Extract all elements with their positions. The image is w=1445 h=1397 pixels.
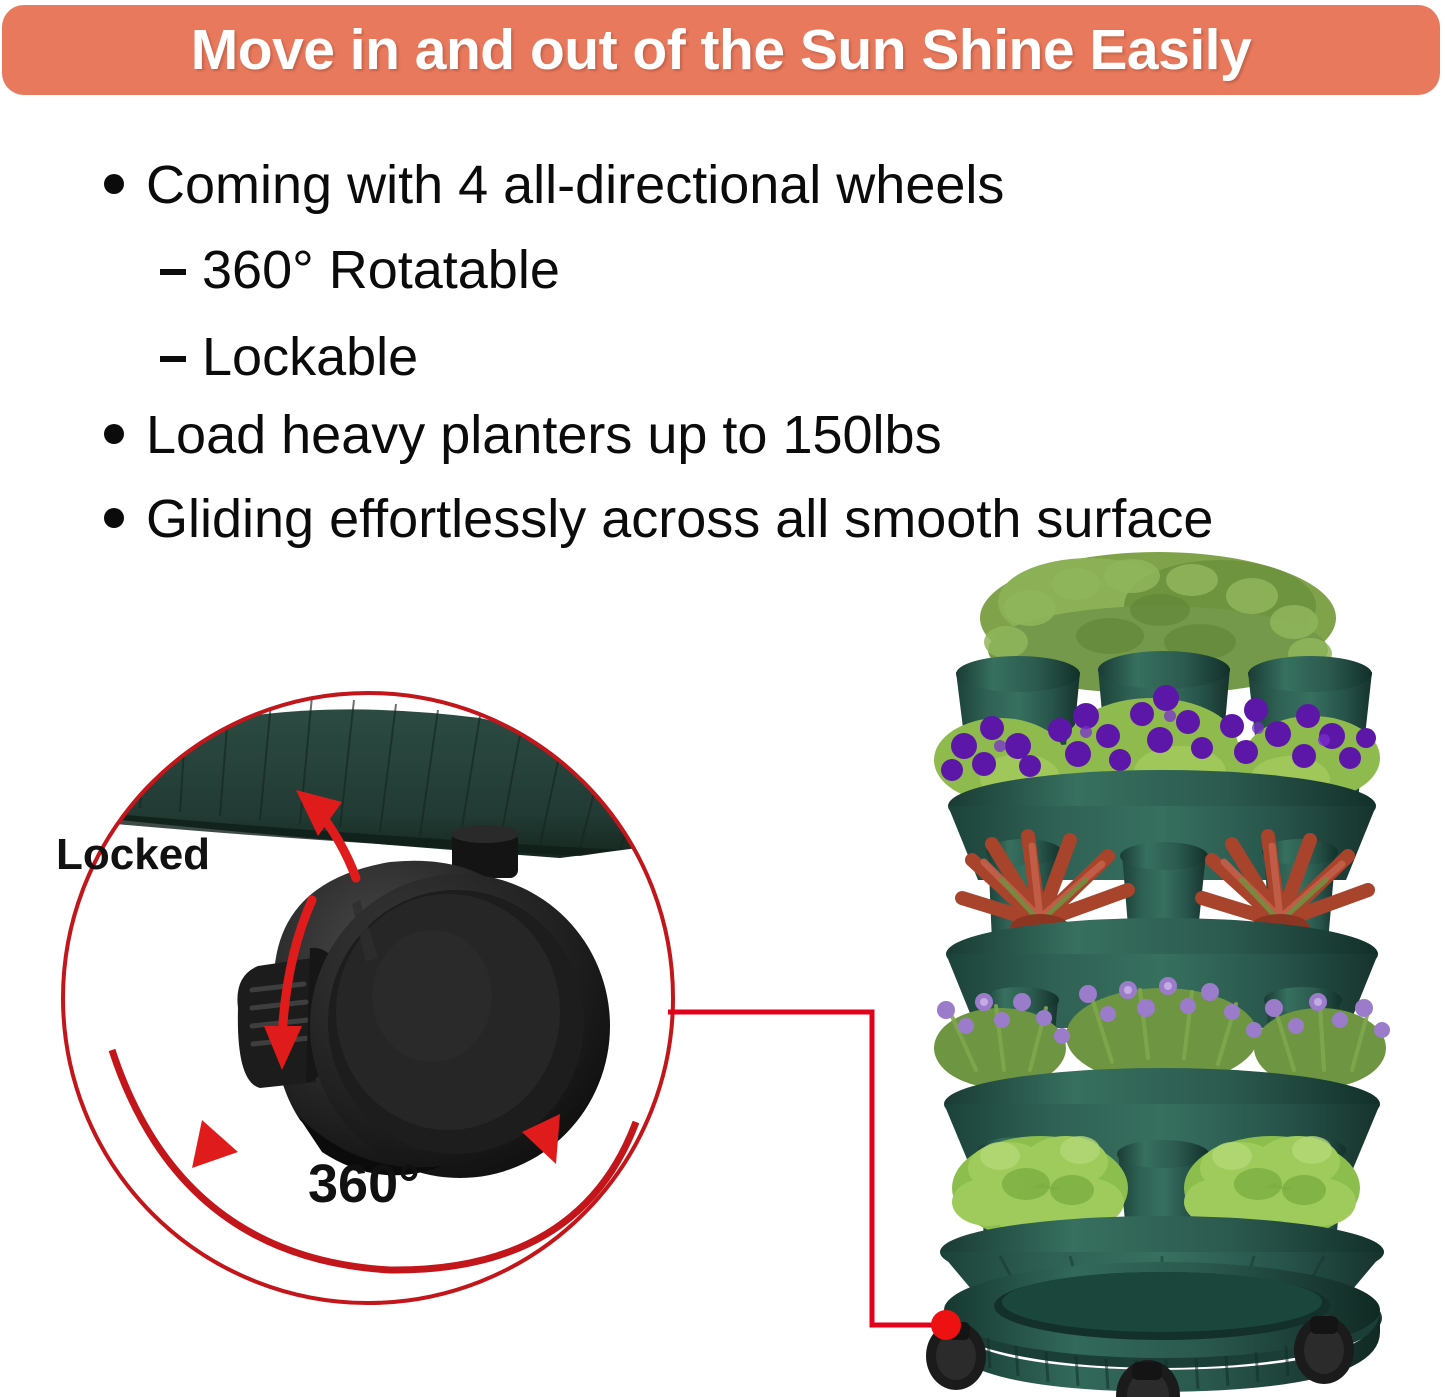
rotation-arrowhead-left-icon <box>192 1120 238 1168</box>
feature-text: Gliding effortlessly across all smooth s… <box>146 492 1213 546</box>
list-item: Lockable <box>160 330 418 384</box>
list-item: Gliding effortlessly across all smooth s… <box>104 492 1213 546</box>
page-title: Move in and out of the Sun Shine Easily <box>191 17 1251 83</box>
caster-caddy-base <box>926 1262 1382 1397</box>
product-infographic: Move in and out of the Sun Shine Easily … <box>0 0 1445 1397</box>
list-item: Load heavy planters up to 150lbs <box>104 408 942 462</box>
caster-wheel-front-left <box>926 1322 986 1390</box>
bullet-dot-icon <box>104 174 124 194</box>
dash-marker-icon <box>160 269 186 275</box>
caster-wheel-front-right <box>1294 1316 1354 1384</box>
header-banner: Move in and out of the Sun Shine Easily <box>2 5 1440 95</box>
bullet-dot-icon <box>104 508 124 528</box>
caster-closeup-callout <box>60 690 680 1310</box>
list-item: 360° Rotatable <box>160 243 560 297</box>
stackable-planter-tower <box>880 550 1445 1397</box>
feature-text: 360° Rotatable <box>202 243 560 297</box>
locked-label: Locked <box>56 830 210 880</box>
dash-marker-icon <box>160 356 186 362</box>
rotation-label: 360° <box>308 1153 420 1215</box>
bullet-dot-icon <box>104 424 124 444</box>
feature-text: Load heavy planters up to 150lbs <box>146 408 942 462</box>
feature-text: Lockable <box>202 330 418 384</box>
feature-text: Coming with 4 all-directional wheels <box>146 158 1004 212</box>
list-item: Coming with 4 all-directional wheels <box>104 158 1004 212</box>
